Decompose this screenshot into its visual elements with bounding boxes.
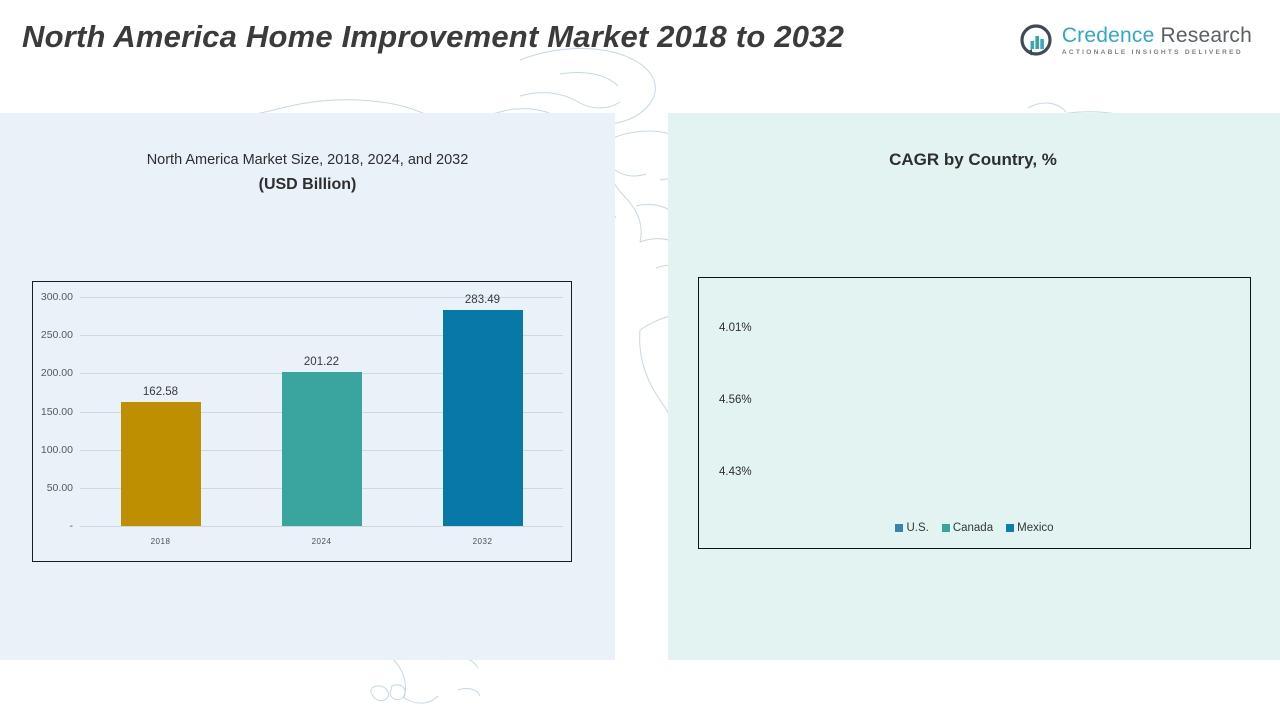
y-axis-tick-label: 50.00	[47, 482, 73, 494]
x-axis-tick-label: 2032	[443, 537, 523, 551]
bar-item: 162.58	[121, 297, 201, 526]
bar-item: 4.43%	[712, 450, 752, 494]
y-axis-tick-label: 250.00	[41, 329, 73, 341]
y-axis-tick-label: 300.00	[41, 291, 73, 303]
brand-logo[interactable]: Credence Research Actionable Insights De…	[1019, 24, 1252, 58]
x-axis-tick-label: 2024	[282, 537, 362, 551]
page-title: North America Home Improvement Market 20…	[22, 16, 1022, 59]
legend-item[interactable]: Canada	[942, 522, 993, 534]
bar-value-label: 4.01%	[719, 322, 752, 334]
market-size-chart: 300.00250.00200.00150.00100.0050.00-162.…	[32, 281, 572, 562]
bar-group: 162.58201.22283.49	[80, 297, 563, 526]
bar-value-label: 283.49	[465, 294, 500, 306]
bar-item: 201.22	[282, 297, 362, 526]
bar[interactable]	[121, 402, 201, 526]
legend-label: Mexico	[1017, 522, 1053, 534]
legend-item[interactable]: U.S.	[895, 522, 928, 534]
market-size-chart-subtitle: (USD Billion)	[40, 176, 575, 194]
bar-value-label: 162.58	[143, 386, 178, 398]
y-axis-tick-label: 100.00	[41, 444, 73, 456]
legend-item[interactable]: Mexico	[1006, 522, 1053, 534]
bar-item: 283.49	[443, 297, 523, 526]
market-size-x-axis-labels: 201820242032	[80, 537, 563, 551]
market-size-plot-area: 300.00250.00200.00150.00100.0050.00-162.…	[80, 297, 563, 526]
logo-name-credence: Credence	[1062, 24, 1155, 47]
y-axis-tick-label: -	[70, 520, 74, 532]
bar-value-label: 201.22	[304, 356, 339, 368]
cagr-chart: 4.01%4.56%4.43% U.S.CanadaMexico	[698, 277, 1251, 549]
logo-text: Credence Research Actionable Insights De…	[1062, 25, 1252, 57]
legend-label: U.S.	[906, 522, 928, 534]
cagr-chart-title: CAGR by Country, %	[700, 150, 1246, 170]
legend-swatch	[895, 524, 903, 532]
bar-chart-circle-icon	[1019, 24, 1053, 58]
header: North America Home Improvement Market 20…	[0, 0, 1280, 113]
bar-item: 4.01%	[712, 306, 752, 350]
bar-value-label: 4.43%	[719, 466, 752, 478]
bar[interactable]	[282, 372, 362, 526]
legend-swatch	[1006, 524, 1014, 532]
bar[interactable]	[443, 310, 523, 526]
bar-item: 4.56%	[712, 378, 752, 422]
cagr-legend: U.S.CanadaMexico	[699, 522, 1250, 534]
logo-name-research: Research	[1161, 24, 1252, 47]
logo-tagline: Actionable Insights Delivered	[1062, 50, 1252, 57]
logo-name: Credence Research	[1062, 25, 1252, 46]
market-size-chart-title: North America Market Size, 2018, 2024, a…	[40, 152, 575, 168]
infographic-page: North America Home Improvement Market 20…	[0, 0, 1280, 720]
legend-label: Canada	[953, 522, 993, 534]
cagr-plot-area: 4.01%4.56%4.43%	[712, 296, 1240, 496]
x-axis-tick-label: 2018	[121, 537, 201, 551]
bar-value-label: 4.56%	[719, 394, 752, 406]
gridline	[80, 526, 563, 527]
y-axis-tick-label: 200.00	[41, 367, 73, 379]
legend-swatch	[942, 524, 950, 532]
y-axis-tick-label: 150.00	[41, 406, 73, 418]
